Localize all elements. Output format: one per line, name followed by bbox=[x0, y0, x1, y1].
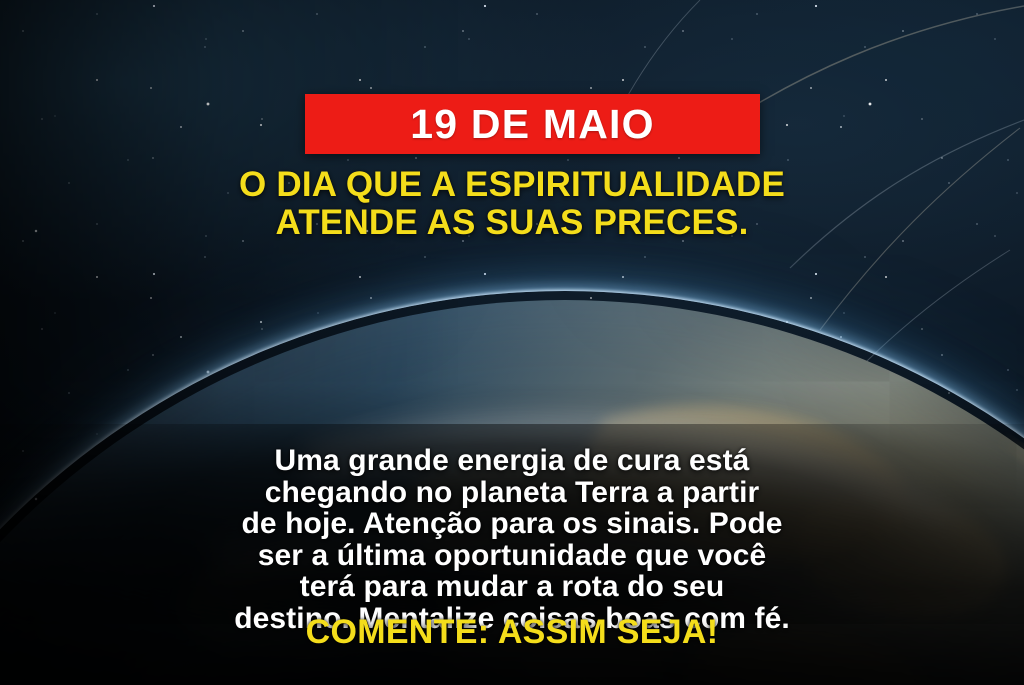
body-line-3: de hoje. Atenção para os sinais. Pode bbox=[48, 508, 976, 540]
headline: O DIA QUE A ESPIRITUALIDADE ATENDE AS SU… bbox=[0, 166, 1024, 242]
body-line-4: ser a última oportunidade que você bbox=[48, 540, 976, 572]
headline-line-2: ATENDE AS SUAS PRECES. bbox=[0, 204, 1024, 242]
body-line-2: chegando no planeta Terra a partir bbox=[48, 477, 976, 509]
body-line-1: Uma grande energia de cura está bbox=[48, 445, 976, 477]
poster-content: 19 DE MAIO O DIA QUE A ESPIRITUALIDADE A… bbox=[0, 0, 1024, 685]
body-line-5: terá para mudar a rota do seu bbox=[48, 571, 976, 603]
date-banner: 19 DE MAIO bbox=[305, 94, 760, 154]
call-to-action-text: COMENTE: ASSIM SEJA! bbox=[0, 614, 1024, 650]
poster-image: 19 DE MAIO O DIA QUE A ESPIRITUALIDADE A… bbox=[0, 0, 1024, 685]
headline-line-1: O DIA QUE A ESPIRITUALIDADE bbox=[0, 166, 1024, 204]
date-banner-text: 19 DE MAIO bbox=[410, 104, 654, 145]
body-copy: Uma grande energia de cura está chegando… bbox=[48, 445, 976, 634]
